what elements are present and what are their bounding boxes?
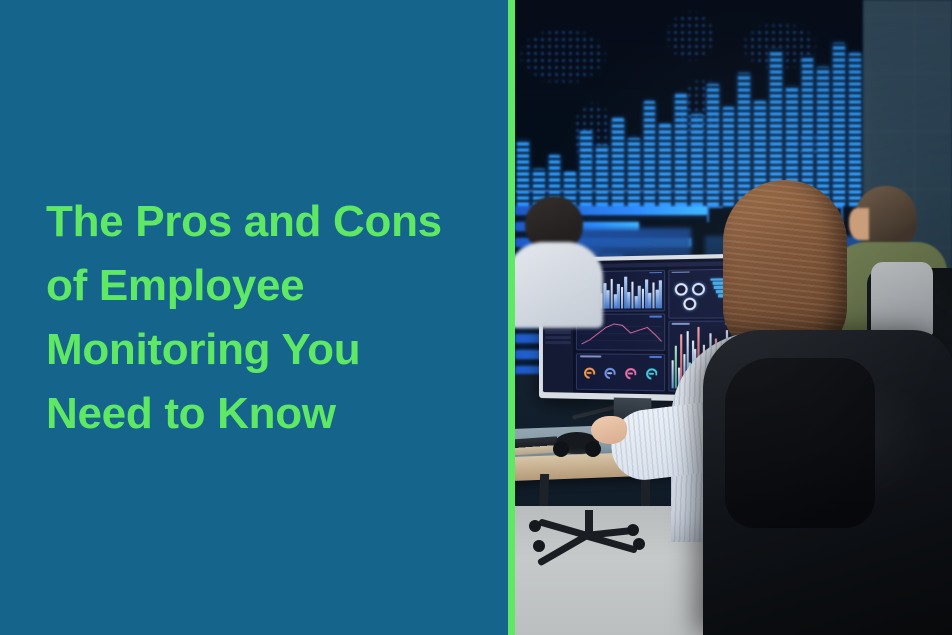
torso bbox=[515, 242, 603, 328]
sidebar-item[interactable] bbox=[545, 330, 571, 333]
gauge-row-card bbox=[576, 353, 666, 391]
left-text-panel: The Pros and Cons of Employee Monitoring… bbox=[0, 0, 508, 635]
donut-chart bbox=[692, 283, 705, 296]
donut-chart bbox=[675, 283, 688, 296]
donut-chart bbox=[683, 298, 696, 311]
analyst-background-right bbox=[855, 186, 917, 252]
rolling-chair-base bbox=[529, 506, 659, 568]
office-chair-foreground bbox=[703, 330, 952, 635]
hand bbox=[591, 416, 627, 444]
corner-bracket-icon bbox=[707, 206, 723, 222]
gauge-orange bbox=[584, 367, 595, 378]
donut-chart-group bbox=[672, 273, 708, 316]
card-title bbox=[672, 323, 689, 325]
gauge-cyan bbox=[646, 368, 658, 380]
card-title bbox=[579, 355, 601, 357]
accent-divider bbox=[508, 0, 515, 635]
face bbox=[849, 208, 869, 240]
sidebar-item[interactable] bbox=[545, 341, 571, 345]
gauge-blue bbox=[604, 368, 615, 379]
blog-header-banner: The Pros and Cons of Employee Monitoring… bbox=[0, 0, 952, 635]
gauge-pink bbox=[625, 368, 636, 379]
hero-photo bbox=[515, 0, 952, 635]
sidebar-item[interactable] bbox=[545, 336, 571, 339]
analyst-background-left bbox=[525, 196, 583, 252]
card-action[interactable] bbox=[649, 316, 662, 318]
card-action[interactable] bbox=[649, 271, 662, 273]
card-action[interactable] bbox=[649, 356, 662, 358]
page-title: The Pros and Cons of Employee Monitoring… bbox=[46, 190, 446, 446]
